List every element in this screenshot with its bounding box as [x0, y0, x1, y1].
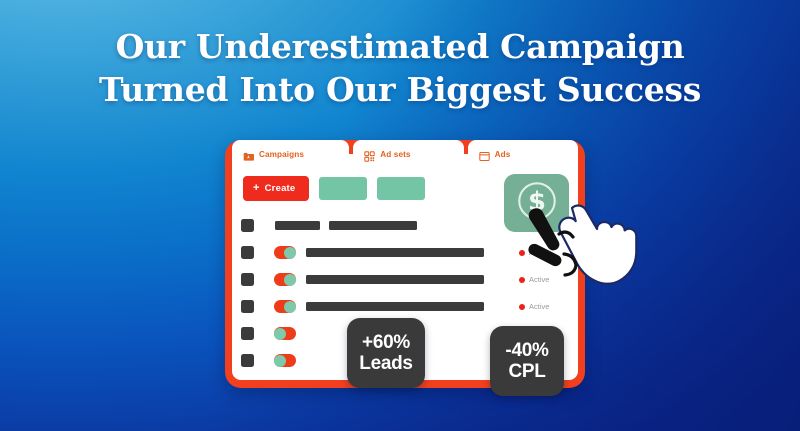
status-label: Active: [529, 248, 549, 257]
create-button[interactable]: + Create: [243, 176, 309, 201]
badge-cpl: -40% CPL: [490, 326, 564, 396]
table-row[interactable]: Active: [241, 293, 571, 320]
tab-campaigns-label: Campaigns: [259, 150, 304, 159]
badge-cpl-value: -40%: [505, 340, 548, 361]
status-label: Active: [529, 275, 549, 284]
toggle-knob: [284, 274, 296, 286]
toggle-knob: [284, 301, 296, 313]
status-badge: Active: [519, 275, 571, 284]
table-row[interactable]: Active: [241, 266, 571, 293]
status-dot-icon: [519, 250, 525, 256]
table-row[interactable]: [241, 212, 571, 239]
row-toggle-cell: [254, 300, 304, 313]
campaign-name-bar: [306, 248, 484, 257]
status-dot-icon: [519, 277, 525, 283]
toggle-knob: [284, 247, 296, 259]
status-toggle[interactable]: [274, 327, 296, 340]
campaign-name-bar: [306, 275, 484, 284]
badge-leads: +60% Leads: [347, 318, 425, 388]
status-dot-icon: [519, 304, 525, 310]
status-badge: Active: [519, 248, 571, 257]
row-checkbox[interactable]: [241, 219, 254, 232]
tab-ad-sets-label: Ad sets: [380, 150, 410, 159]
window-icon: [479, 149, 490, 160]
folder-icon: [243, 149, 254, 160]
row-checkbox[interactable]: [241, 300, 254, 313]
column-header-bar: [329, 221, 417, 230]
tab-ad-sets[interactable]: Ad sets: [353, 140, 463, 168]
tab-ads[interactable]: Ads: [468, 140, 578, 168]
tab-campaigns[interactable]: Campaigns: [232, 140, 349, 168]
row-checkbox[interactable]: [241, 273, 254, 286]
row-checkbox[interactable]: [241, 246, 254, 259]
card-toolbar: + Create: [243, 176, 425, 201]
status-toggle[interactable]: [274, 246, 296, 259]
badge-leads-label: Leads: [359, 353, 412, 374]
status-badge: Active: [519, 302, 571, 311]
toggle-knob: [274, 355, 286, 367]
grid-squares-icon: [364, 149, 375, 160]
campaign-name-bar: [306, 302, 484, 311]
tab-ads-label: Ads: [495, 150, 511, 159]
row-toggle-cell: [254, 273, 304, 286]
row-checkbox[interactable]: [241, 327, 254, 340]
row-toggle-cell: [254, 246, 304, 259]
table-row[interactable]: Active: [241, 239, 571, 266]
row-checkbox[interactable]: [241, 354, 254, 367]
badge-leads-value: +60%: [362, 332, 410, 353]
column-header-bar: [275, 221, 320, 230]
row-toggle-cell: [254, 327, 304, 340]
status-toggle[interactable]: [274, 354, 296, 367]
toggle-knob: [274, 328, 286, 340]
plus-icon: +: [253, 183, 260, 194]
tab-bar: Campaigns Ad set: [232, 140, 578, 168]
page-title: Our Underestimated Campaign Turned Into …: [0, 26, 800, 112]
create-button-label: Create: [265, 183, 296, 194]
status-toggle[interactable]: [274, 273, 296, 286]
filter-placeholder-2[interactable]: [377, 177, 425, 200]
badge-cpl-label: CPL: [508, 361, 545, 382]
status-toggle[interactable]: [274, 300, 296, 313]
filter-placeholder-1[interactable]: [319, 177, 367, 200]
status-label: Active: [529, 302, 549, 311]
row-toggle-cell: [254, 354, 304, 367]
